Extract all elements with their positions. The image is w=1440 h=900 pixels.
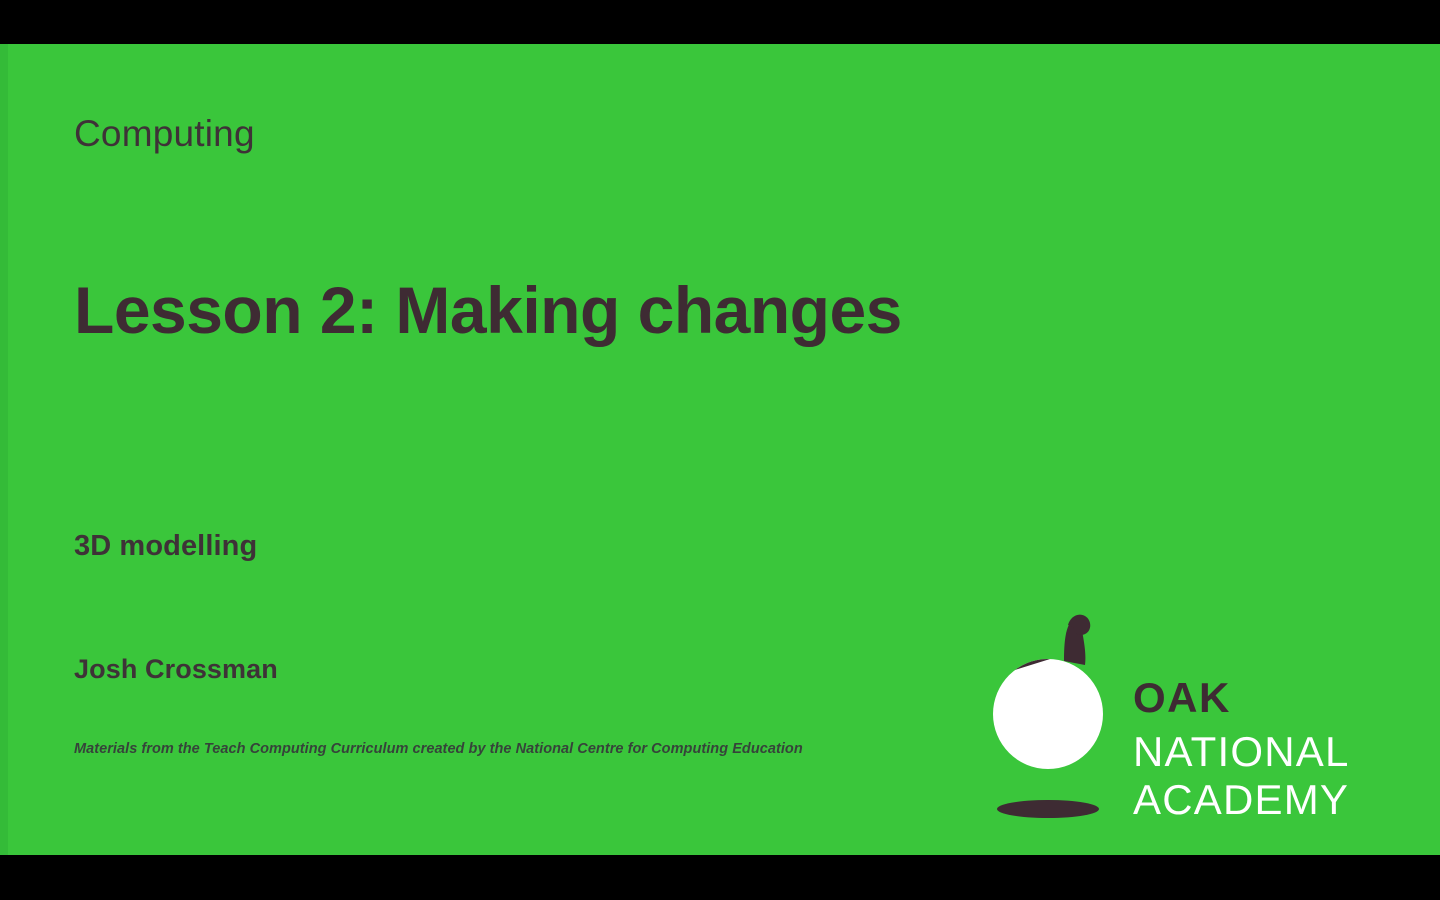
oak-national-academy-logo: OAK NATIONAL ACADEMY — [990, 609, 1385, 839]
unit-label: 3D modelling — [74, 530, 257, 563]
subject-label: Computing — [74, 113, 255, 155]
left-edge-shade — [0, 44, 8, 855]
wordmark-line-oak: OAK — [1133, 677, 1385, 719]
attribution-text: Materials from the Teach Computing Curri… — [74, 741, 803, 757]
slide-canvas: Computing Lesson 2: Making changes 3D mo… — [0, 44, 1440, 855]
letterbox-bar-top — [0, 0, 1440, 44]
wordmark-line-national: NATIONAL — [1133, 728, 1385, 776]
letterbox-bar-bottom — [0, 855, 1440, 900]
oak-wordmark: OAK NATIONAL ACADEMY — [1133, 677, 1385, 824]
slide-root: Computing Lesson 2: Making changes 3D mo… — [0, 0, 1440, 900]
page-title: Lesson 2: Making changes — [74, 272, 902, 348]
teacher-name: Josh Crossman — [74, 654, 278, 685]
acorn-icon — [990, 609, 1115, 824]
wordmark-line-academy: ACADEMY — [1133, 776, 1385, 824]
